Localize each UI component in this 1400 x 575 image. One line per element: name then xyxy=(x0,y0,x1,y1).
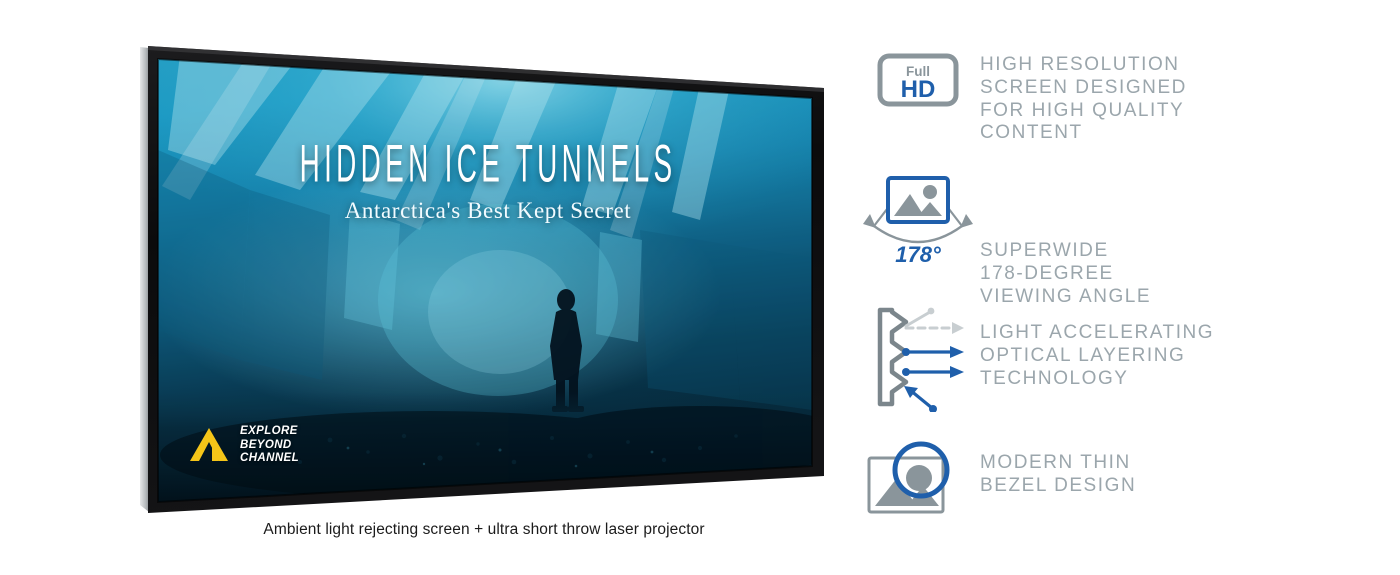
feature-text: MODERN THIN BEZEL DESIGN xyxy=(980,430,1136,498)
feature-text: HIGH RESOLUTION SCREEN DESIGNED FOR HIGH… xyxy=(980,52,1187,145)
tv-display: HIDDEN ICE TUNNELS Antarctica's Best Kep… xyxy=(0,0,860,575)
thin-bezel-icon xyxy=(863,430,973,526)
full-hd-icon: Full HD xyxy=(876,52,960,108)
light-layering-icon xyxy=(866,300,970,412)
feature-icon-wrap: 178° xyxy=(855,170,980,282)
feature-text: LIGHT ACCELERATING OPTICAL LAYERING TECH… xyxy=(980,300,1214,390)
tv-side-edge xyxy=(140,47,149,512)
caption: Ambient light rejecting screen + ultra s… xyxy=(0,521,968,539)
feature-item-high-resolution: Full HD HIGH RESOLUTION SCREEN DESIGNED … xyxy=(855,52,1187,145)
feature-item-viewing-angle: 178° SUPERWIDE 178-DEGREE VIEWING ANGLE xyxy=(855,170,1151,308)
feature-item-light-layering: LIGHT ACCELERATING OPTICAL LAYERING TECH… xyxy=(855,300,1214,412)
feature-icon-wrap xyxy=(855,430,980,526)
feature-text: SUPERWIDE 178-DEGREE VIEWING ANGLE xyxy=(980,170,1151,308)
viewing-angle-label: 178° xyxy=(895,242,941,267)
feature-item-thin-bezel: MODERN THIN BEZEL DESIGN xyxy=(855,430,1136,526)
full-hd-bottom-label: HD xyxy=(900,76,935,103)
screen-picture xyxy=(150,50,860,512)
feature-icon-wrap xyxy=(855,300,980,412)
viewing-angle-icon: 178° xyxy=(862,170,974,282)
feature-icon-wrap: Full HD xyxy=(855,52,980,108)
tv-graphic xyxy=(0,0,860,575)
